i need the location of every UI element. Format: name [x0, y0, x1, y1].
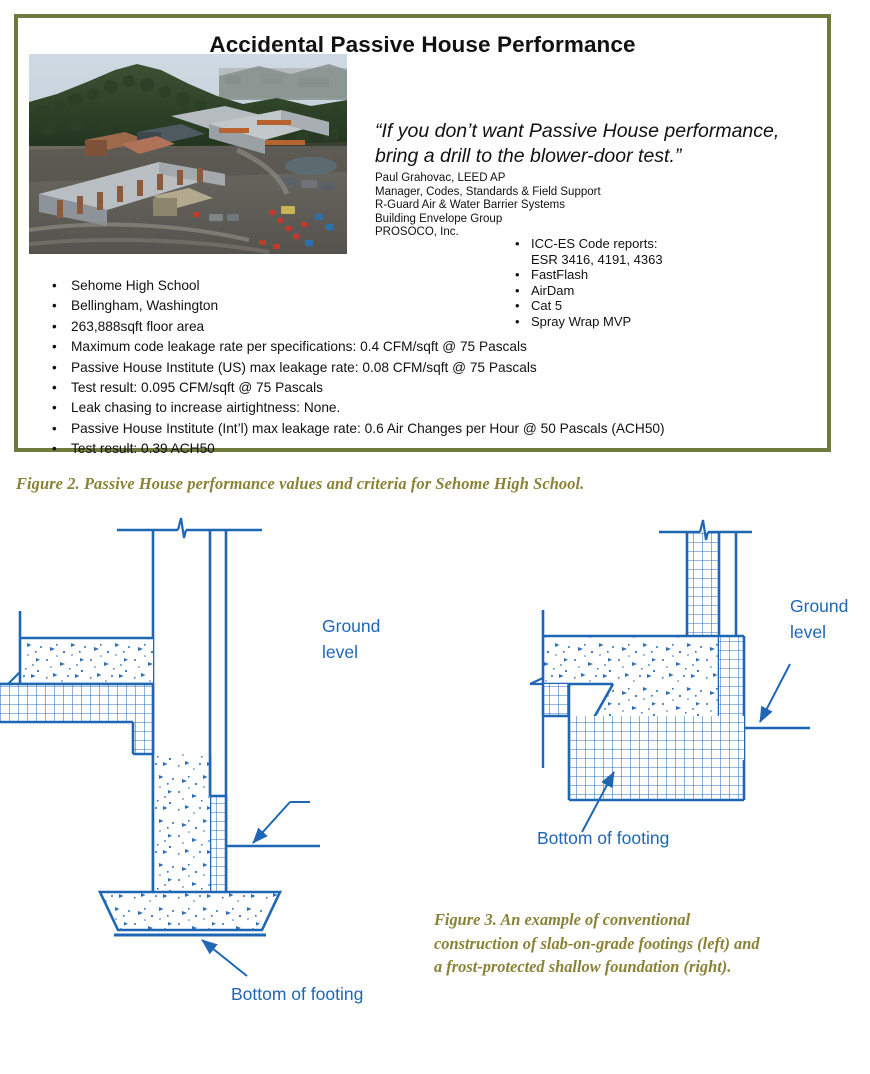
left-ground-level-label-line1: Ground	[322, 616, 380, 636]
list-item-label: Passive House Institute (Int’l) max leak…	[71, 419, 665, 439]
right-ground-level-label-line2: level	[790, 622, 826, 642]
list-item-label: Bellingham, Washington	[71, 296, 218, 316]
right-ground-level-label-line1: Ground	[790, 596, 848, 616]
attribution-line: R-Guard Air & Water Barrier Systems	[375, 199, 823, 213]
list-item-label: Test result: 0.39 ACH50	[71, 439, 215, 459]
attribution-block: Paul Grahovac, LEED AP Manager, Codes, S…	[375, 172, 823, 240]
bullet-glyph: •	[52, 419, 71, 439]
figure2-caption: Figure 2. Passive House performance valu…	[16, 474, 584, 494]
bullet-glyph: •	[52, 378, 71, 398]
left-foundation-drawing	[0, 518, 320, 976]
attribution-line: Paul Grahovac, LEED AP	[375, 172, 823, 186]
list-item: • Maximum code leakage rate per specific…	[52, 337, 832, 357]
bullet-glyph: •	[52, 337, 71, 357]
list-item: • Bellingham, Washington	[52, 296, 832, 316]
bullet-glyph: •	[52, 398, 71, 418]
list-item-label: Leak chasing to increase airtightness: N…	[71, 398, 340, 418]
list-item-label: ICC-ES Code reports:	[531, 236, 657, 252]
bullet-glyph: •	[515, 236, 531, 252]
quote-line-1: “If you don’t want Passive House perform…	[375, 119, 823, 144]
quote-block: “If you don’t want Passive House perform…	[375, 119, 823, 240]
left-bottom-of-footing-label: Bottom of footing	[231, 984, 363, 1004]
list-item-label: Passive House Institute (US) max leakage…	[71, 358, 537, 378]
foundation-diagrams: Ground level Bottom of footing Ground le…	[0, 506, 870, 1066]
list-item-label: 263,888sqft floor area	[71, 317, 204, 337]
quote-line-2: bring a drill to the blower-door test.”	[375, 144, 823, 169]
list-item: • ICC-ES Code reports:	[515, 236, 815, 252]
figure3-caption: Figure 3. An example of conventional con…	[434, 908, 764, 979]
fact-bullet-list: • Sehome High School • Bellingham, Washi…	[52, 276, 832, 460]
bullet-glyph: •	[52, 317, 71, 337]
aerial-photo-sehome-high-school	[29, 54, 347, 254]
right-bottom-of-footing-label: Bottom of footing	[537, 828, 669, 848]
list-item-label: Sehome High School	[71, 276, 200, 296]
list-item: • 263,888sqft floor area	[52, 317, 832, 337]
right-foundation-drawing	[530, 520, 810, 832]
bullet-glyph: •	[52, 439, 71, 459]
list-item: • Leak chasing to increase airtightness:…	[52, 398, 832, 418]
attribution-line: Building Envelope Group	[375, 213, 823, 227]
list-item-label: Test result: 0.095 CFM/sqft @ 75 Pascals	[71, 378, 323, 398]
bullet-glyph: •	[52, 296, 71, 316]
list-item-label: Maximum code leakage rate per specificat…	[71, 337, 527, 357]
list-item: • Passive House Institute (US) max leaka…	[52, 358, 832, 378]
list-item: • Test result: 0.095 CFM/sqft @ 75 Pasca…	[52, 378, 832, 398]
bullet-glyph: •	[52, 276, 71, 296]
figure2-slide-panel: Accidental Passive House Performance	[14, 14, 831, 452]
list-item: • Sehome High School	[52, 276, 832, 296]
attribution-line: Manager, Codes, Standards & Field Suppor…	[375, 186, 823, 200]
list-item-sublabel: ESR 3416, 4191, 4363	[531, 252, 815, 268]
left-ground-level-label-line2: level	[322, 642, 358, 662]
bullet-glyph: •	[52, 358, 71, 378]
list-item: • Passive House Institute (Int’l) max le…	[52, 419, 832, 439]
list-item: • Test result: 0.39 ACH50	[52, 439, 832, 459]
